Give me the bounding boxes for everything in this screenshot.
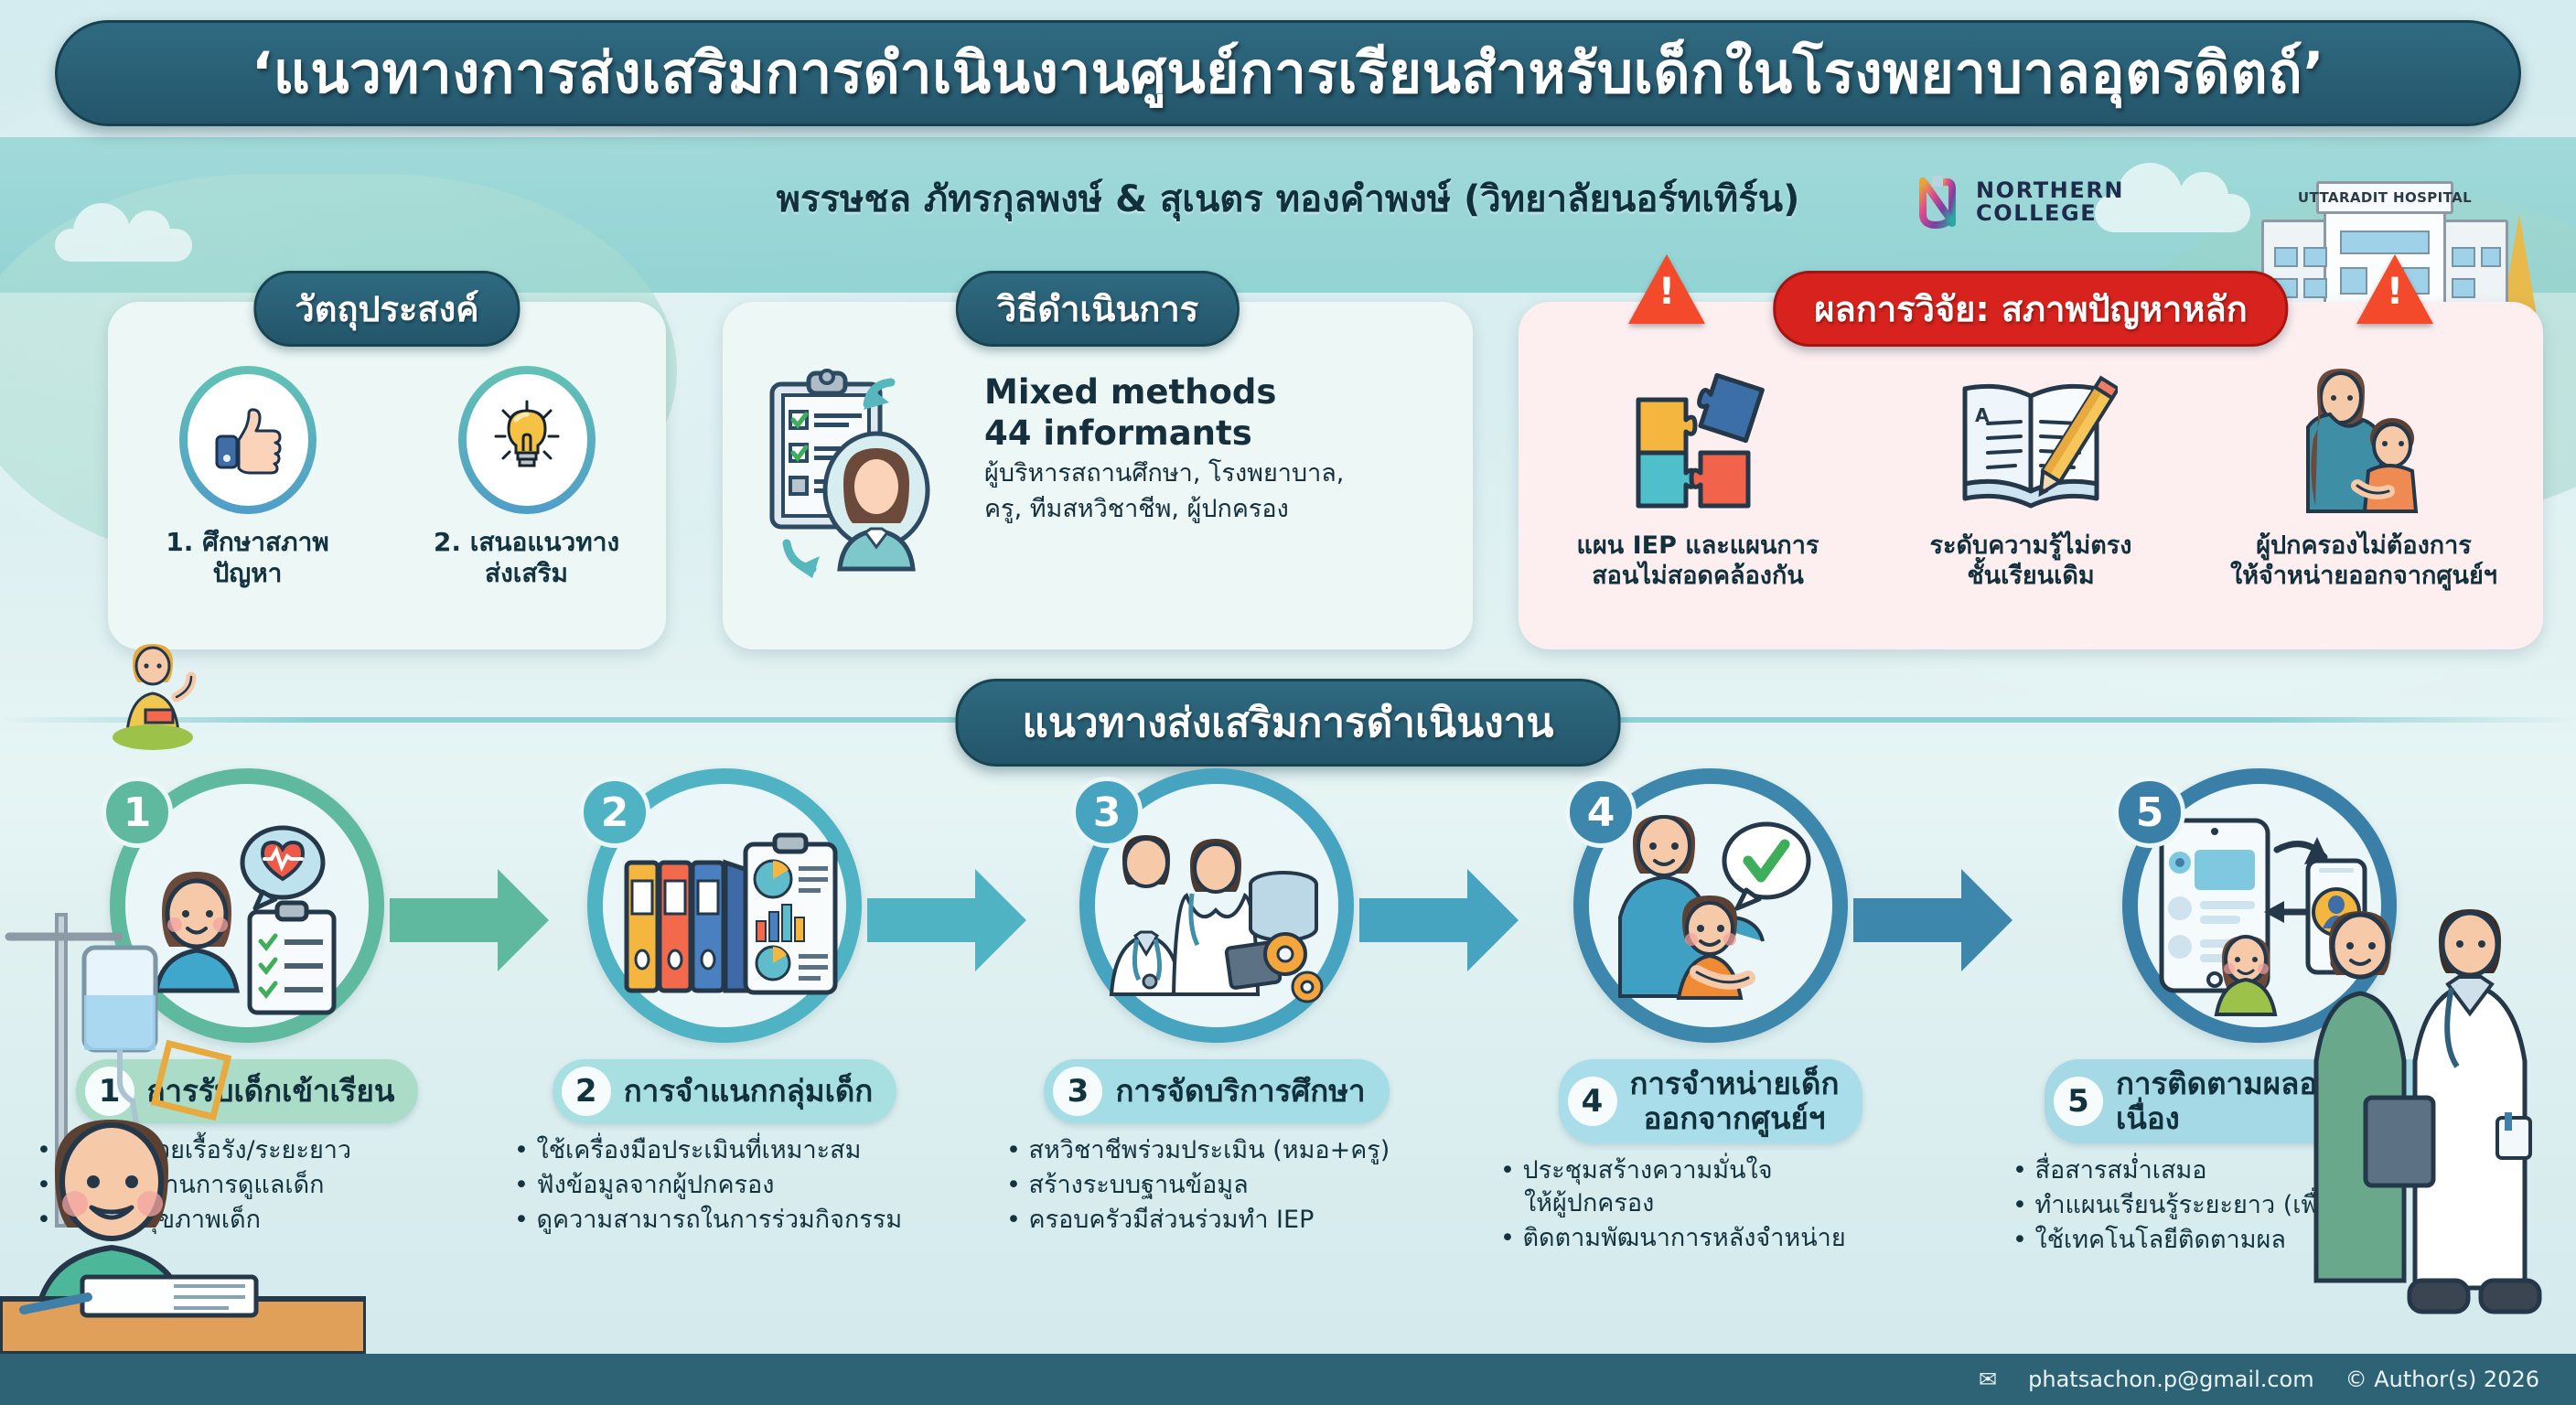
doctor-nurse-illustration [2302,878,2576,1354]
finding-label: แผน IEP และแผนการ สอนไม่สอดคล้องกัน [1577,531,1819,592]
footer-email[interactable]: phatsachon.p@gmail.com [2028,1367,2313,1392]
step-4-number: 4 [1568,1077,1617,1126]
step-4-bullet: ติดตามพัฒนาการหลังจำหน่าย [1500,1222,1930,1255]
step-5-number: 5 [2054,1077,2103,1126]
hospital-child-studying-illustration [0,842,366,1354]
step-3-bullet: สหวิชาชีพร่วมประเมิน (หมอ+ครู) [1006,1134,1436,1167]
step-4-bullet: ประชุมสร้างความมั่นใจ ให้ผู้ปกครอง [1500,1154,1930,1220]
step-2-bullets: ใช้เครื่องมือประเมินที่เหมาะสม ฟังข้อมูล… [505,1134,944,1238]
finding-item: แผน IEP และแผนการ สอนไม่สอดคล้องกัน [1547,357,1849,592]
infographic-canvas: ‘แนวทางการส่งเสริมการดำเนินงานศูนย์การเร… [0,0,2576,1405]
objective-item: 2. เสนอแนวทาง ส่งเสริม [413,366,641,589]
logo-line-2: COLLEGE [1976,202,2124,225]
cloud-decoration-left [55,229,192,262]
finding-label: ผู้ปกครองไม่ต้องการ ให้จำหน่ายออกจากศูนย… [2230,531,2497,592]
puzzle-icon [1620,357,1776,523]
mail-icon: ✉ [1979,1367,1997,1392]
hospital-window [2274,247,2298,267]
step-3-title-pill: 3 การจัดบริการศึกษา [1044,1059,1389,1123]
step-2-number: 2 [562,1067,611,1116]
warning-exclamation-right: ! [2356,271,2433,313]
method-heading-pill: วิธีดำเนินการ [956,271,1240,347]
book-pencil-icon: A [1944,357,2118,523]
objective-icon-ring [179,366,317,514]
process-step-4: 4 [1491,768,1930,1257]
hospital-window-strip [2340,231,2430,254]
hospital-window [2303,278,2327,298]
flow-arrow-3 [1359,898,1469,942]
step-2-illustration-ring: 2 [587,768,862,1043]
process-banner: แนวทางส่งเสริมการดำเนินงาน [956,679,1621,767]
finding-item: A ระดับความรู้ไม่ตรง ชั้นเรียนเดิม [1880,357,2182,592]
method-line-3: ผู้บริหารสถานศึกษา, โรงพยาบาล, [984,457,1344,489]
footer-content: ✉ phatsachon.p@gmail.com © Author(s) 202… [1979,1354,2539,1405]
method-line-1: Mixed methods [984,371,1344,413]
process-steps: 1 [0,768,2576,1354]
teacher-figure-illustration [105,631,215,750]
step-3-number: 3 [1053,1067,1102,1116]
methodology-card: วิธีดำเนินการ [723,302,1473,649]
page-title: ‘แนวทางการส่งเสริมการดำเนินงานศูนย์การเร… [55,20,2521,126]
step-4-illustration-ring: 4 [1573,768,1848,1043]
thumbs-up-icon [206,396,290,484]
northern-college-logo: NORTHERN COLLEGE [1912,174,2124,231]
step-3-bullet: ครอบครัวมีส่วนร่วมทำ IEP [1006,1204,1436,1237]
findings-list: แผน IEP และแผนการ สอนไม่สอดคล้องกัน [1531,357,2530,592]
objective-icon-ring [458,366,596,514]
objectives-heading: วัตถุประสงค์ [295,289,478,329]
method-line-2: 44 informants [984,413,1344,454]
method-text-block: Mixed methods 44 informants ผู้บริหารสถา… [984,362,1344,525]
logo-line-1: NORTHERN [1976,179,2124,202]
method-line-4: ครู, ทีมสหวิชาชีพ, ผู้ปกครอง [984,493,1344,525]
method-heading: วิธีดำเนินการ [997,289,1198,329]
objectives-card: วัตถุประสงค์ 1. ศึกษาสภาพปั [108,302,666,649]
process-banner-text: แนวทางส่งเสริมการดำเนินงาน [1023,700,1554,746]
warning-exclamation-left: ! [1628,271,1705,313]
hospital-window [2481,247,2501,267]
step-4-title-pill: 4 การจำหน่ายเด็ก ออกจากศูนย์ฯ [1559,1059,1863,1143]
northern-n-icon [1912,174,1965,231]
step-2-number-badge: 2 [579,777,650,848]
objectives-heading-pill: วัตถุประสงค์ [253,271,520,347]
objective-label: 1. ศึกษาสภาพปัญหา [134,527,362,589]
step-2-title-pill: 2 การจำแนกกลุ่มเด็ก [553,1059,897,1123]
step-3-bullets: สหวิชาชีพร่วมประเมิน (หมอ+ครู) สร้างระบบ… [997,1134,1436,1238]
northern-college-wordmark: NORTHERN COLLEGE [1976,179,2124,225]
step-3-illustration-ring: 3 [1079,768,1354,1043]
step-4-number-badge: 4 [1565,777,1637,848]
hospital-window [2303,247,2327,267]
parent-child-icon [2277,357,2451,523]
findings-card: ! ! ผลการวิจัย: สภาพปัญหาหลัก แผน [1519,302,2543,649]
step-5-number-badge: 5 [2114,777,2185,848]
step-4-title: การจำหน่ายเด็ก ออกจากศูนย์ฯ [1630,1067,1840,1136]
clipboard-person-icon [756,362,966,591]
findings-heading-pill: ผลการวิจัย: สภาพปัญหาหลัก [1773,271,2288,347]
step-3-title: การจัดบริการศึกษา [1115,1074,1365,1109]
footer-copyright: © Author(s) 2026 [2345,1367,2539,1392]
step-2-bullet: ใช้เครื่องมือประเมินที่เหมาะสม [514,1134,944,1167]
lightbulb-icon [485,396,569,484]
svg-text:A: A [1975,404,1990,426]
step-4-bullets: ประชุมสร้างความมั่นใจ ให้ผู้ปกครอง ติดตา… [1491,1154,1930,1256]
flow-arrow-2 [867,898,977,942]
hospital-sign: UTTARADIT HOSPITAL [2316,181,2453,214]
step-3-bullet: สร้างระบบฐานข้อมูล [1006,1169,1436,1202]
step-2-bullet: ดูความสามารถในการร่วมกิจกรรม [514,1204,944,1237]
finding-label: ระดับความรู้ไม่ตรง ชั้นเรียนเดิม [1930,531,2132,592]
step-3-number-badge: 3 [1071,777,1143,848]
flow-arrow-1 [390,898,499,942]
hospital-window [2452,247,2475,267]
finding-item: ผู้ปกครองไม่ต้องการ ให้จำหน่ายออกจากศูนย… [2213,357,2515,592]
process-step-3: 3 [997,768,1436,1239]
objective-item: 1. ศึกษาสภาพปัญหา [134,366,362,589]
objective-label: 2. เสนอแนวทาง ส่งเสริม [434,527,619,589]
authors-line: พรรษชล ภัทรกุลพงษ์ & สุเนตร ทองคำพงษ์ (ว… [0,170,2576,227]
page-title-text: ‘แนวทางการส่งเสริมการดำเนินงานศูนย์การเร… [252,28,2325,118]
flow-arrow-4 [1853,898,1963,942]
hospital-window [2452,278,2475,298]
findings-heading: ผลการวิจัย: สภาพปัญหาหลัก [1814,289,2247,329]
objectives-list: 1. ศึกษาสภาพปัญหา [108,366,666,589]
step-2-bullet: ฟังข้อมูลจากผู้ปกครอง [514,1169,944,1202]
step-2-title: การจำแนกกลุ่มเด็ก [624,1074,874,1109]
authors-text: พรรษชล ภัทรกุลพงษ์ & สุเนตร ทองคำพงษ์ (ว… [777,169,1800,228]
process-step-2: 2 [505,768,944,1239]
hospital-sign-text: UTTARADIT HOSPITAL [2298,189,2472,206]
step-1-number-badge: 1 [102,777,173,848]
